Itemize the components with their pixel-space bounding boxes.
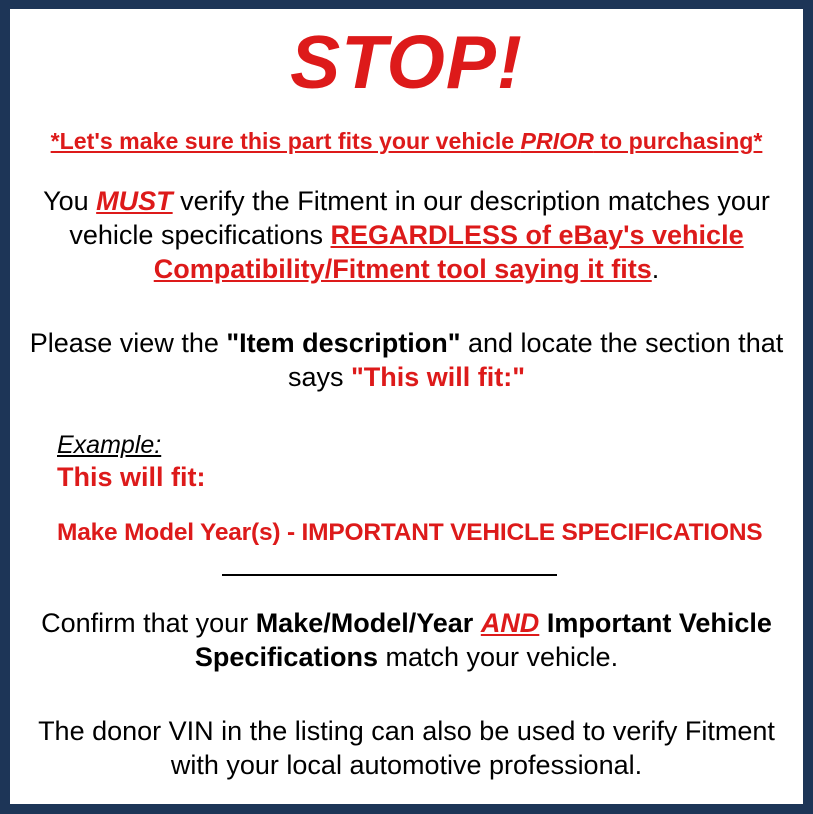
example-this-will-fit: This will fit: (57, 462, 803, 493)
confirm-paragraph-part1: Confirm that your (41, 608, 256, 638)
subtitle-suffix: to purchasing* (594, 128, 762, 154)
page-title: STOP! (10, 25, 803, 100)
emphasis-this-will-fit: "This will fit:" (351, 362, 525, 392)
must-paragraph-part3: . (652, 254, 660, 284)
example-label-row: Example: (57, 432, 803, 460)
example-spec-line: Make Model Year(s) - IMPORTANT VEHICLE S… (57, 519, 803, 547)
fitment-notice-poster: STOP! *Let's make sure this part fits yo… (0, 0, 813, 814)
emphasis-and: AND (481, 608, 540, 638)
horizontal-divider (222, 574, 557, 576)
confirm-paragraph-part2: match your vehicle. (378, 642, 618, 672)
subtitle-emphasis-prior: PRIOR (521, 128, 594, 154)
donor-vin-paragraph: The donor VIN in the listing can also be… (10, 714, 803, 782)
example-block: Example: This will fit: Make Model Year(… (10, 432, 803, 547)
emphasis-item-description: "Item description" (226, 328, 460, 358)
please-paragraph-part1: Please view the (30, 328, 227, 358)
divider-wrapper (10, 574, 803, 586)
subtitle-prefix: *Let's make sure this part fits your veh… (51, 128, 521, 154)
emphasis-make-model-year: Make/Model/Year (256, 608, 474, 638)
example-label: Example: (57, 432, 161, 460)
please-view-paragraph: Please view the "Item description" and l… (10, 326, 803, 394)
confirm-paragraph: Confirm that your Make/Model/Year AND Im… (10, 606, 803, 674)
must-verify-paragraph: You MUST verify the Fitment in our descr… (10, 184, 803, 286)
subtitle-banner: *Let's make sure this part fits your veh… (16, 128, 797, 155)
must-paragraph-part1: You (43, 186, 96, 216)
notice-sheet: STOP! *Let's make sure this part fits yo… (10, 9, 803, 804)
confirm-space-1 (473, 608, 481, 638)
confirm-space-2 (539, 608, 547, 638)
emphasis-must: MUST (96, 186, 173, 216)
